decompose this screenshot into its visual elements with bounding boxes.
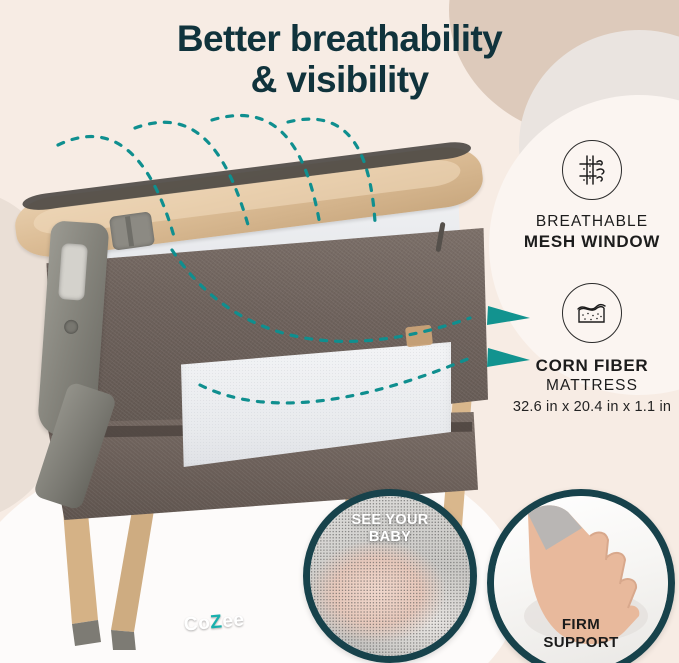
adjuster-slot xyxy=(58,243,88,301)
feature-mattress-label-bold: CORN FIBER xyxy=(505,356,679,377)
badge-firm-label-line-2: SUPPORT xyxy=(494,634,668,652)
brand-logo-part-2: ee xyxy=(221,609,245,632)
badge-see-your-baby: SEE YOUR BABY xyxy=(303,489,477,663)
feature-mattress-label-light: MATTRESS xyxy=(505,377,679,396)
feature-mesh-label-bold: MESH WINDOW xyxy=(505,232,679,253)
infographic-canvas: Better breathability & visibility xyxy=(0,0,679,663)
crib-strap-loop xyxy=(109,211,155,251)
badge-see-label-line-2: BABY xyxy=(310,529,470,546)
brand-logo-part-1: Co xyxy=(183,612,211,635)
feature-mattress-dimensions: 32.6 in x 20.4 in x 1.1 in xyxy=(505,399,679,415)
page-title: Better breathability & visibility xyxy=(0,18,679,101)
corn-fiber-mattress-icon xyxy=(562,283,622,343)
adjuster-knob xyxy=(64,319,79,334)
crib-leather-tab xyxy=(405,325,433,348)
badge-firm-label-line-1: FIRM xyxy=(494,616,668,634)
badge-see-label-line-1: SEE YOUR xyxy=(310,512,470,529)
crib-leg-tip-front-left xyxy=(72,620,101,646)
badge-firm-support: FIRM SUPPORT xyxy=(487,489,675,663)
feature-corn-fiber-mattress: CORN FIBER MATTRESS 32.6 in x 20.4 in x … xyxy=(505,283,679,415)
crib-leg-tip-rear-left xyxy=(111,630,136,650)
page-title-line-1: Better breathability xyxy=(177,18,502,59)
badge-see-your-baby-label: SEE YOUR BABY xyxy=(310,512,470,546)
badge-firm-support-label: FIRM SUPPORT xyxy=(494,616,668,652)
page-title-line-2: & visibility xyxy=(0,59,679,100)
feature-mesh-label-light: BREATHABLE xyxy=(505,213,679,232)
breathable-mesh-icon xyxy=(562,140,622,200)
feature-breathable-mesh: BREATHABLE MESH WINDOW xyxy=(505,140,679,253)
